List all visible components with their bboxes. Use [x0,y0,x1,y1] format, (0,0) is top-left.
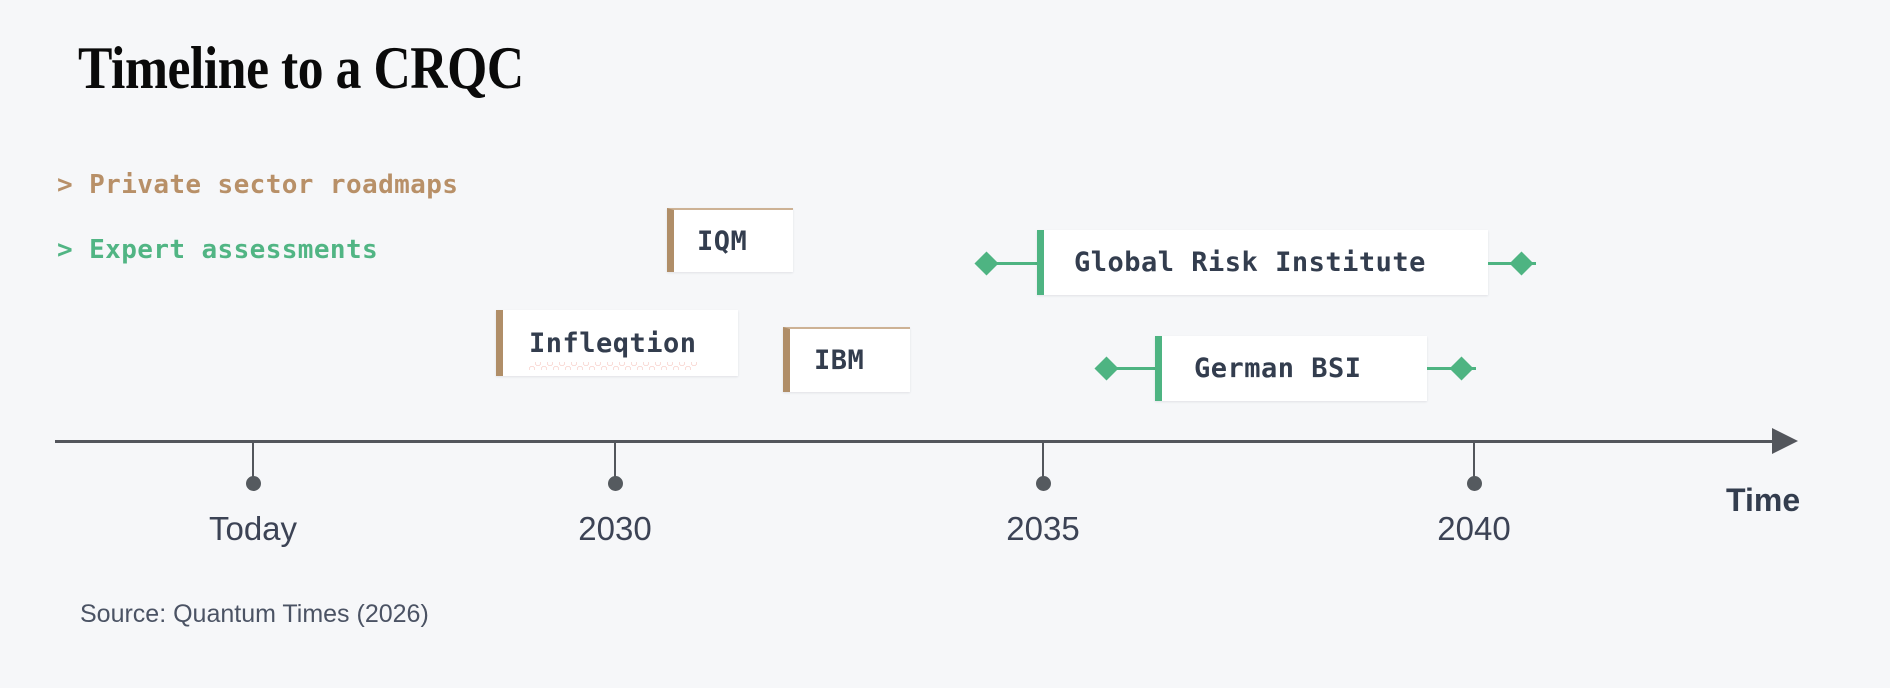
tick-label-2030: 2030 [578,510,651,548]
event-box-infleqtion[interactable]: Infleqtion [496,310,738,376]
tick-dot-2035 [1036,476,1051,491]
range-diamond-left-global-risk-institute [974,251,998,275]
axis-arrow-icon [1772,428,1798,454]
legend-item-private-sector: > Private sector roadmaps [57,170,458,200]
timeline-figure: Timeline to a CRQC > Private sector road… [0,0,1890,688]
legend-label-private-sector: Private sector roadmaps [89,170,458,200]
legend-marker-expert: > [57,235,89,265]
tick-label-today: Today [209,510,297,548]
range-diamond-left-german-bsi [1094,356,1118,380]
range-stem-left-german-bsi [1113,367,1161,370]
event-label-iqm: IQM [697,226,747,257]
tick-stem-2030 [614,442,616,480]
spellcheck-squiggle-icon [529,362,697,370]
source-caption: Source: Quantum Times (2026) [80,600,429,629]
legend-label-expert: Expert assessments [89,235,378,265]
tick-dot-2040 [1467,476,1482,491]
event-box-ibm[interactable]: IBM [783,327,910,392]
event-box-german-bsi[interactable]: German BSI [1155,336,1427,401]
tick-dot-today [246,476,261,491]
event-label-german-bsi: German BSI [1194,353,1362,384]
legend-marker-private-sector: > [57,170,89,200]
event-label-infleqtion: Infleqtion [529,328,697,359]
page-title: Timeline to a CRQC [78,34,524,103]
tick-stem-2040 [1473,442,1475,480]
timeline-axis [55,440,1790,443]
event-box-global-risk-institute[interactable]: Global Risk Institute [1037,230,1488,295]
event-label-global-risk-institute: Global Risk Institute [1074,247,1426,278]
axis-title: Time [1726,482,1800,519]
tick-label-2035: 2035 [1006,510,1079,548]
range-diamond-right-german-bsi [1449,356,1473,380]
legend-item-expert: > Expert assessments [57,235,378,265]
tick-stem-2035 [1042,442,1044,480]
event-box-iqm[interactable]: IQM [667,208,793,272]
range-diamond-right-global-risk-institute [1509,251,1533,275]
event-label-ibm: IBM [814,345,864,376]
tick-stem-today [252,442,254,480]
tick-dot-2030 [608,476,623,491]
tick-label-2040: 2040 [1437,510,1510,548]
